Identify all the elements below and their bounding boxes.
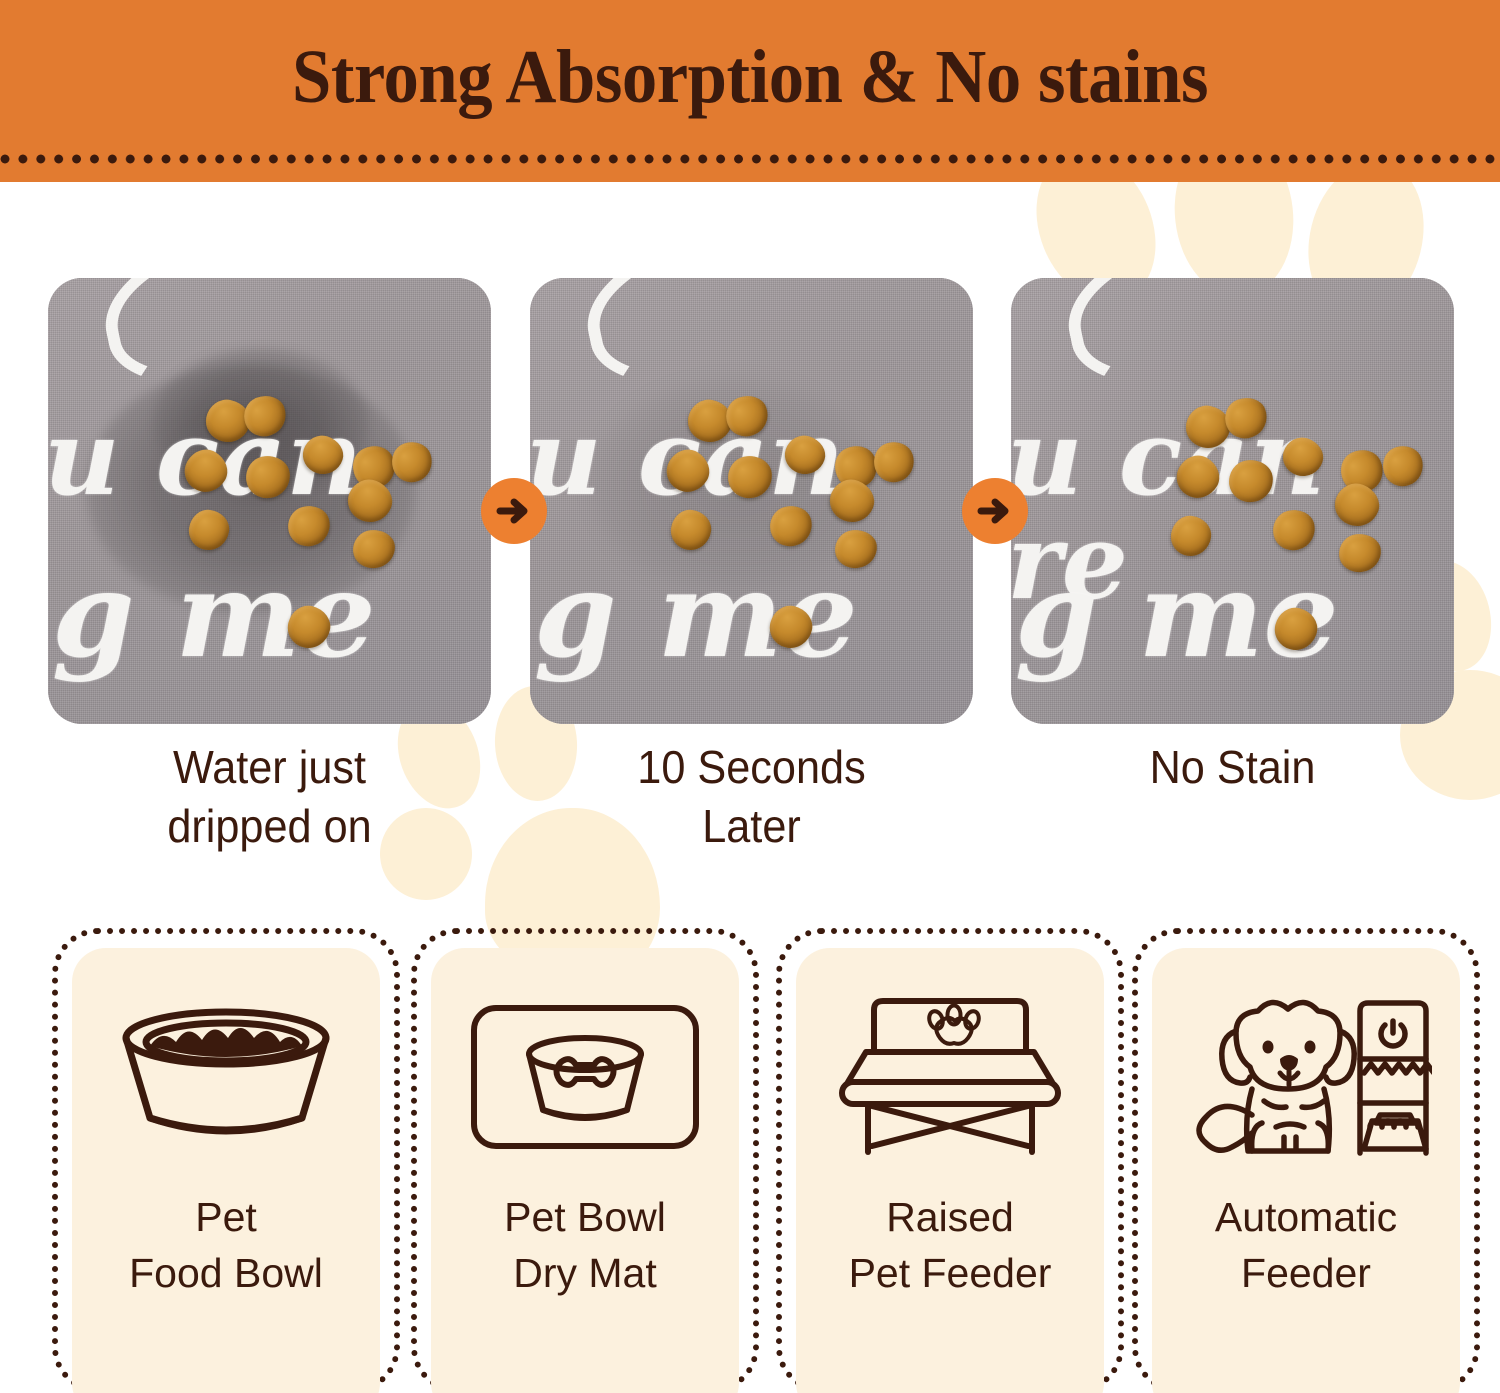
arrow-right-icon [481, 478, 547, 544]
bowl-on-mat-icon [469, 992, 701, 1162]
infographic-page: Strong Absorption & No stains u can g me [0, 0, 1500, 1393]
demo-caption-step-3: No Stain [1024, 738, 1440, 797]
card-body: Raised Pet Feeder [796, 948, 1104, 1393]
header-banner: Strong Absorption & No stains [0, 0, 1500, 182]
demo-photo-step-1: u can g me [48, 278, 491, 724]
page-title: Strong Absorption & No stains [53, 34, 1448, 121]
demo-captions: Water just dripped on 10 Seconds Later N… [0, 738, 1500, 868]
card-label: Pet Bowl Dry Mat [431, 1190, 739, 1302]
raised-pet-feeder-icon [832, 992, 1068, 1162]
use-case-cards: Pet Food Bowl Pet Bow [0, 928, 1500, 1393]
arrow-right-icon [962, 478, 1028, 544]
card-body: Pet Food Bowl [72, 948, 380, 1393]
card-label: Pet Food Bowl [72, 1190, 380, 1302]
use-case-card-raised-pet-feeder[interactable]: Raised Pet Feeder [776, 928, 1124, 1393]
card-body: Pet Bowl Dry Mat [431, 948, 739, 1393]
demo-caption-step-1: Water just dripped on [61, 738, 477, 856]
use-case-card-pet-food-bowl[interactable]: Pet Food Bowl [52, 928, 400, 1393]
use-case-card-automatic-feeder[interactable]: Automatic Feeder [1132, 928, 1480, 1393]
header-dotted-divider [0, 152, 1500, 166]
dog-food-bowl-icon [110, 992, 342, 1162]
card-label: Raised Pet Feeder [796, 1190, 1104, 1302]
absorption-demo-photos: u can g me u can g me [0, 270, 1500, 730]
demo-photo-step-3: u can re g me [1011, 278, 1454, 724]
automatic-feeder-dog-icon [1180, 992, 1432, 1162]
demo-photo-step-2: u can g me [530, 278, 973, 724]
demo-caption-step-2: 10 Seconds Later [543, 738, 959, 856]
card-label: Automatic Feeder [1152, 1190, 1460, 1302]
card-body: Automatic Feeder [1152, 948, 1460, 1393]
use-case-card-pet-bowl-dry-mat[interactable]: Pet Bowl Dry Mat [411, 928, 759, 1393]
